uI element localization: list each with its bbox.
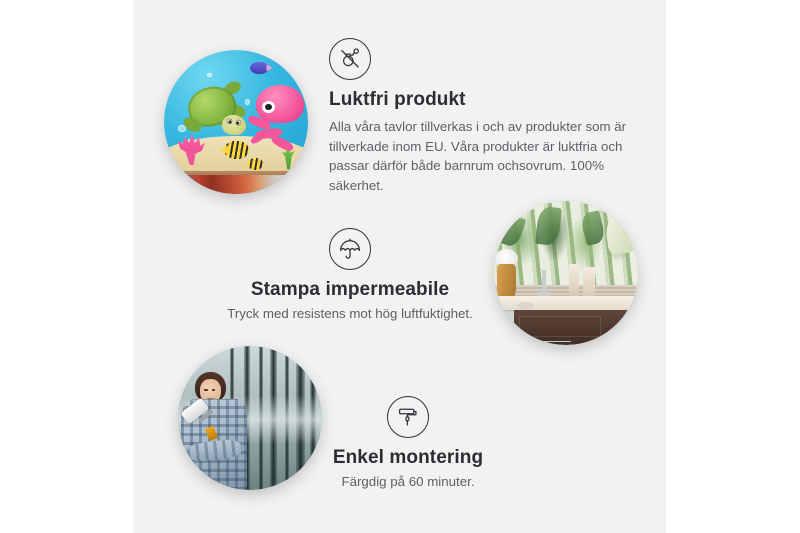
feature-title: Enkel montering xyxy=(283,447,533,469)
turtle-eye xyxy=(234,119,241,126)
striped-fish-icon xyxy=(248,158,264,170)
feature-title: Luktfri produkt xyxy=(329,89,629,111)
cabinet-handle xyxy=(623,338,627,344)
underwater-cartoon-wallpaper-photo xyxy=(164,50,308,194)
vanity-drawer xyxy=(519,316,601,337)
leaf-icon xyxy=(498,214,525,249)
bathroom-leaf-wallpaper-photo xyxy=(494,201,638,345)
toiletry-bottle xyxy=(569,264,579,297)
feature-title: Stampa impermeabile xyxy=(205,279,495,301)
leaf-highlight xyxy=(603,206,638,254)
marble-countertop xyxy=(494,296,638,310)
lower-scene-strip xyxy=(164,175,308,194)
feature-assembly: Enkel montering Färgdig på 60 minuter. xyxy=(283,396,533,492)
leaf-icon xyxy=(535,206,562,246)
bubble-icon xyxy=(245,99,251,105)
woman-eye xyxy=(204,389,207,391)
octopus-eye xyxy=(262,101,275,113)
feature-banner: Luktfri produkt Alla våra tavlor tillver… xyxy=(0,0,800,533)
faucet-icon xyxy=(542,270,546,297)
umbrella-icon xyxy=(329,228,371,270)
feature-odourless: Luktfri produkt Alla våra tavlor tillver… xyxy=(329,38,629,196)
leaf-wallpaper xyxy=(494,201,638,296)
turtle-eye xyxy=(226,118,233,125)
toiletry-bottle xyxy=(583,267,595,299)
drawer-handle xyxy=(539,341,571,342)
leaf-icon xyxy=(580,210,607,246)
feature-description: Färgdig på 60 minuter. xyxy=(283,472,533,492)
octopus-head xyxy=(256,85,304,124)
paint-roller-icon xyxy=(387,396,429,438)
woman-eye xyxy=(212,389,215,391)
cabinet-handle xyxy=(606,338,610,344)
no-fragrance-spray-icon xyxy=(329,38,371,80)
bubble-icon xyxy=(207,73,211,77)
wood-vanity xyxy=(514,310,638,345)
feature-waterproof: Stampa impermeabile Tryck med resistens … xyxy=(205,228,495,324)
feature-description: Tryck med resistens mot hög luftfuktighe… xyxy=(205,304,495,324)
feature-description: Alla våra tavlor tillverkas i och av pro… xyxy=(329,117,629,196)
